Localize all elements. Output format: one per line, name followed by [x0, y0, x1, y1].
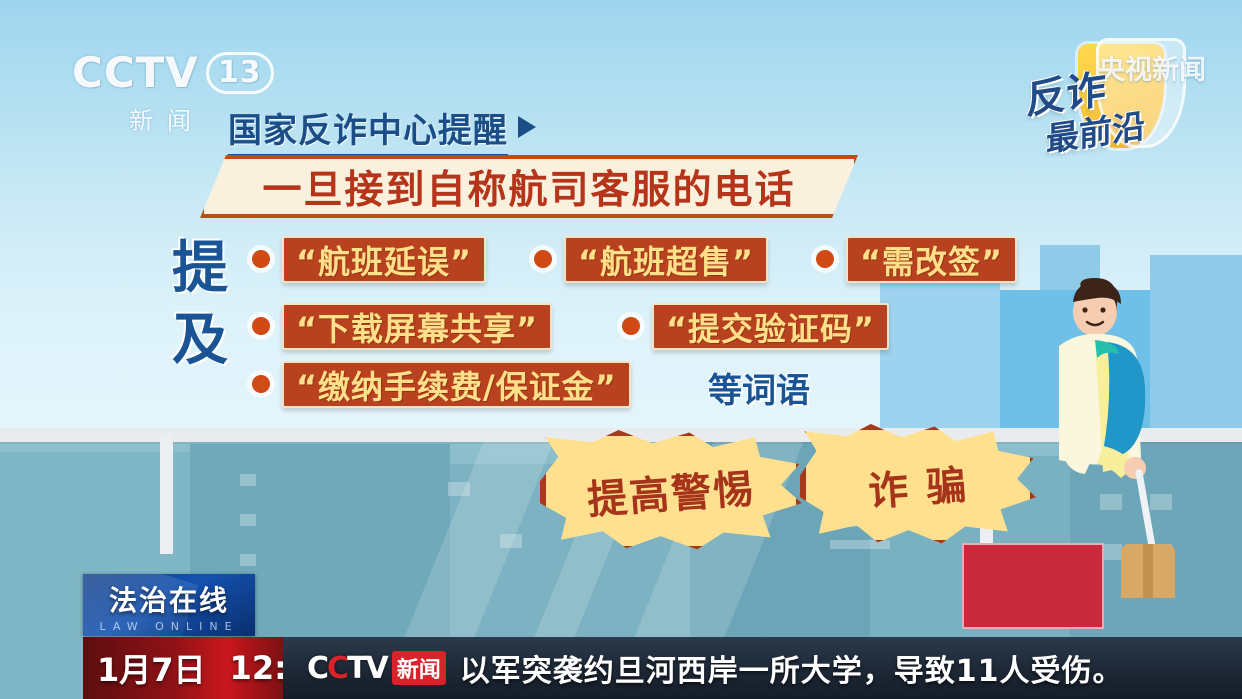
keywords-label: 提及 [168, 233, 232, 377]
bullet-dot-icon [252, 250, 270, 268]
keyword-chip-text: “缴纳手续费/保证金” [296, 362, 617, 408]
railing-post [160, 434, 173, 554]
keyword-chip-text: “航班延误” [296, 237, 472, 283]
keyword-chip-text: “下载屏幕共享” [296, 304, 538, 350]
network-watermark: 央视新闻 [1098, 56, 1206, 86]
program-bug-subtitle: LAW ONLINE [83, 620, 255, 633]
callout-bubble-text: 提高警惕 [585, 456, 757, 526]
headline-banner: 一旦接到自称航司客服的电话 [200, 155, 858, 218]
window-shape [830, 540, 890, 549]
red-card-shape [962, 543, 1104, 629]
callout-bubble-text: 诈 骗 [866, 453, 970, 518]
window-shape [500, 534, 522, 548]
keyword-chip-text: “提交验证码” [666, 304, 875, 350]
channel-logo-text: CCTV [72, 48, 199, 97]
channel-logo-row: CCTV 13 [72, 48, 262, 97]
news-ticker-text: 以军突袭约旦河西岸一所大学，导致11人受伤。 [460, 646, 1124, 690]
bullet-dot-icon [252, 375, 270, 393]
keyword-chip: “下载屏幕共享” [282, 303, 552, 350]
window-shape [240, 514, 256, 526]
ticker-logo-text: CCTV [307, 651, 387, 686]
clock-date: 1月7日 [83, 645, 206, 691]
program-logo-corner: 央视新闻 反诈 最前沿 [1022, 34, 1232, 154]
keyword-chip: “航班超售” [564, 236, 768, 283]
bullet-dot-icon [534, 250, 552, 268]
window-shape [240, 554, 256, 566]
program-bug-title: 法治在线 [83, 579, 255, 619]
keyword-chip: “缴纳手续费/保证金” [282, 361, 631, 408]
bullet-dot-icon [252, 317, 270, 335]
clock-bar: 1月7日 12:42 [83, 637, 283, 699]
news-ticker: CCTV 新闻 以军突袭约旦河西岸一所大学，导致11人受伤。 [283, 637, 1242, 699]
headline-banner-text: 一旦接到自称航司客服的电话 [262, 159, 795, 215]
ticker-logo-badge: 新闻 [392, 651, 446, 685]
window-shape [448, 482, 470, 496]
headline-kicker: 国家反诈中心提醒 [228, 103, 536, 152]
program-bug: 法治在线 LAW ONLINE [83, 574, 255, 636]
channel-logo-number: 13 [206, 52, 274, 94]
triangle-arrow-icon [518, 116, 536, 138]
keyword-chip-text: “航班超售” [578, 237, 754, 283]
keyword-chip: “航班延误” [282, 236, 486, 283]
keyword-chip: “需改签” [846, 236, 1017, 283]
keyword-chip: “提交验证码” [652, 303, 889, 350]
bullet-dot-icon [622, 317, 640, 335]
broadcast-screen: CCTV 13 新闻 央视新闻 反诈 最前沿 国家反诈中心提醒 一旦接到自称航司… [0, 0, 1242, 699]
ticker-logo: CCTV 新闻 [307, 651, 446, 686]
keywords-suffix: 等词语 [708, 363, 810, 412]
bullet-dot-icon [816, 250, 834, 268]
headline-kicker-text: 国家反诈中心提醒 [228, 111, 508, 159]
window-shape [240, 474, 256, 486]
keyword-chip-text: “需改签” [860, 237, 1003, 283]
